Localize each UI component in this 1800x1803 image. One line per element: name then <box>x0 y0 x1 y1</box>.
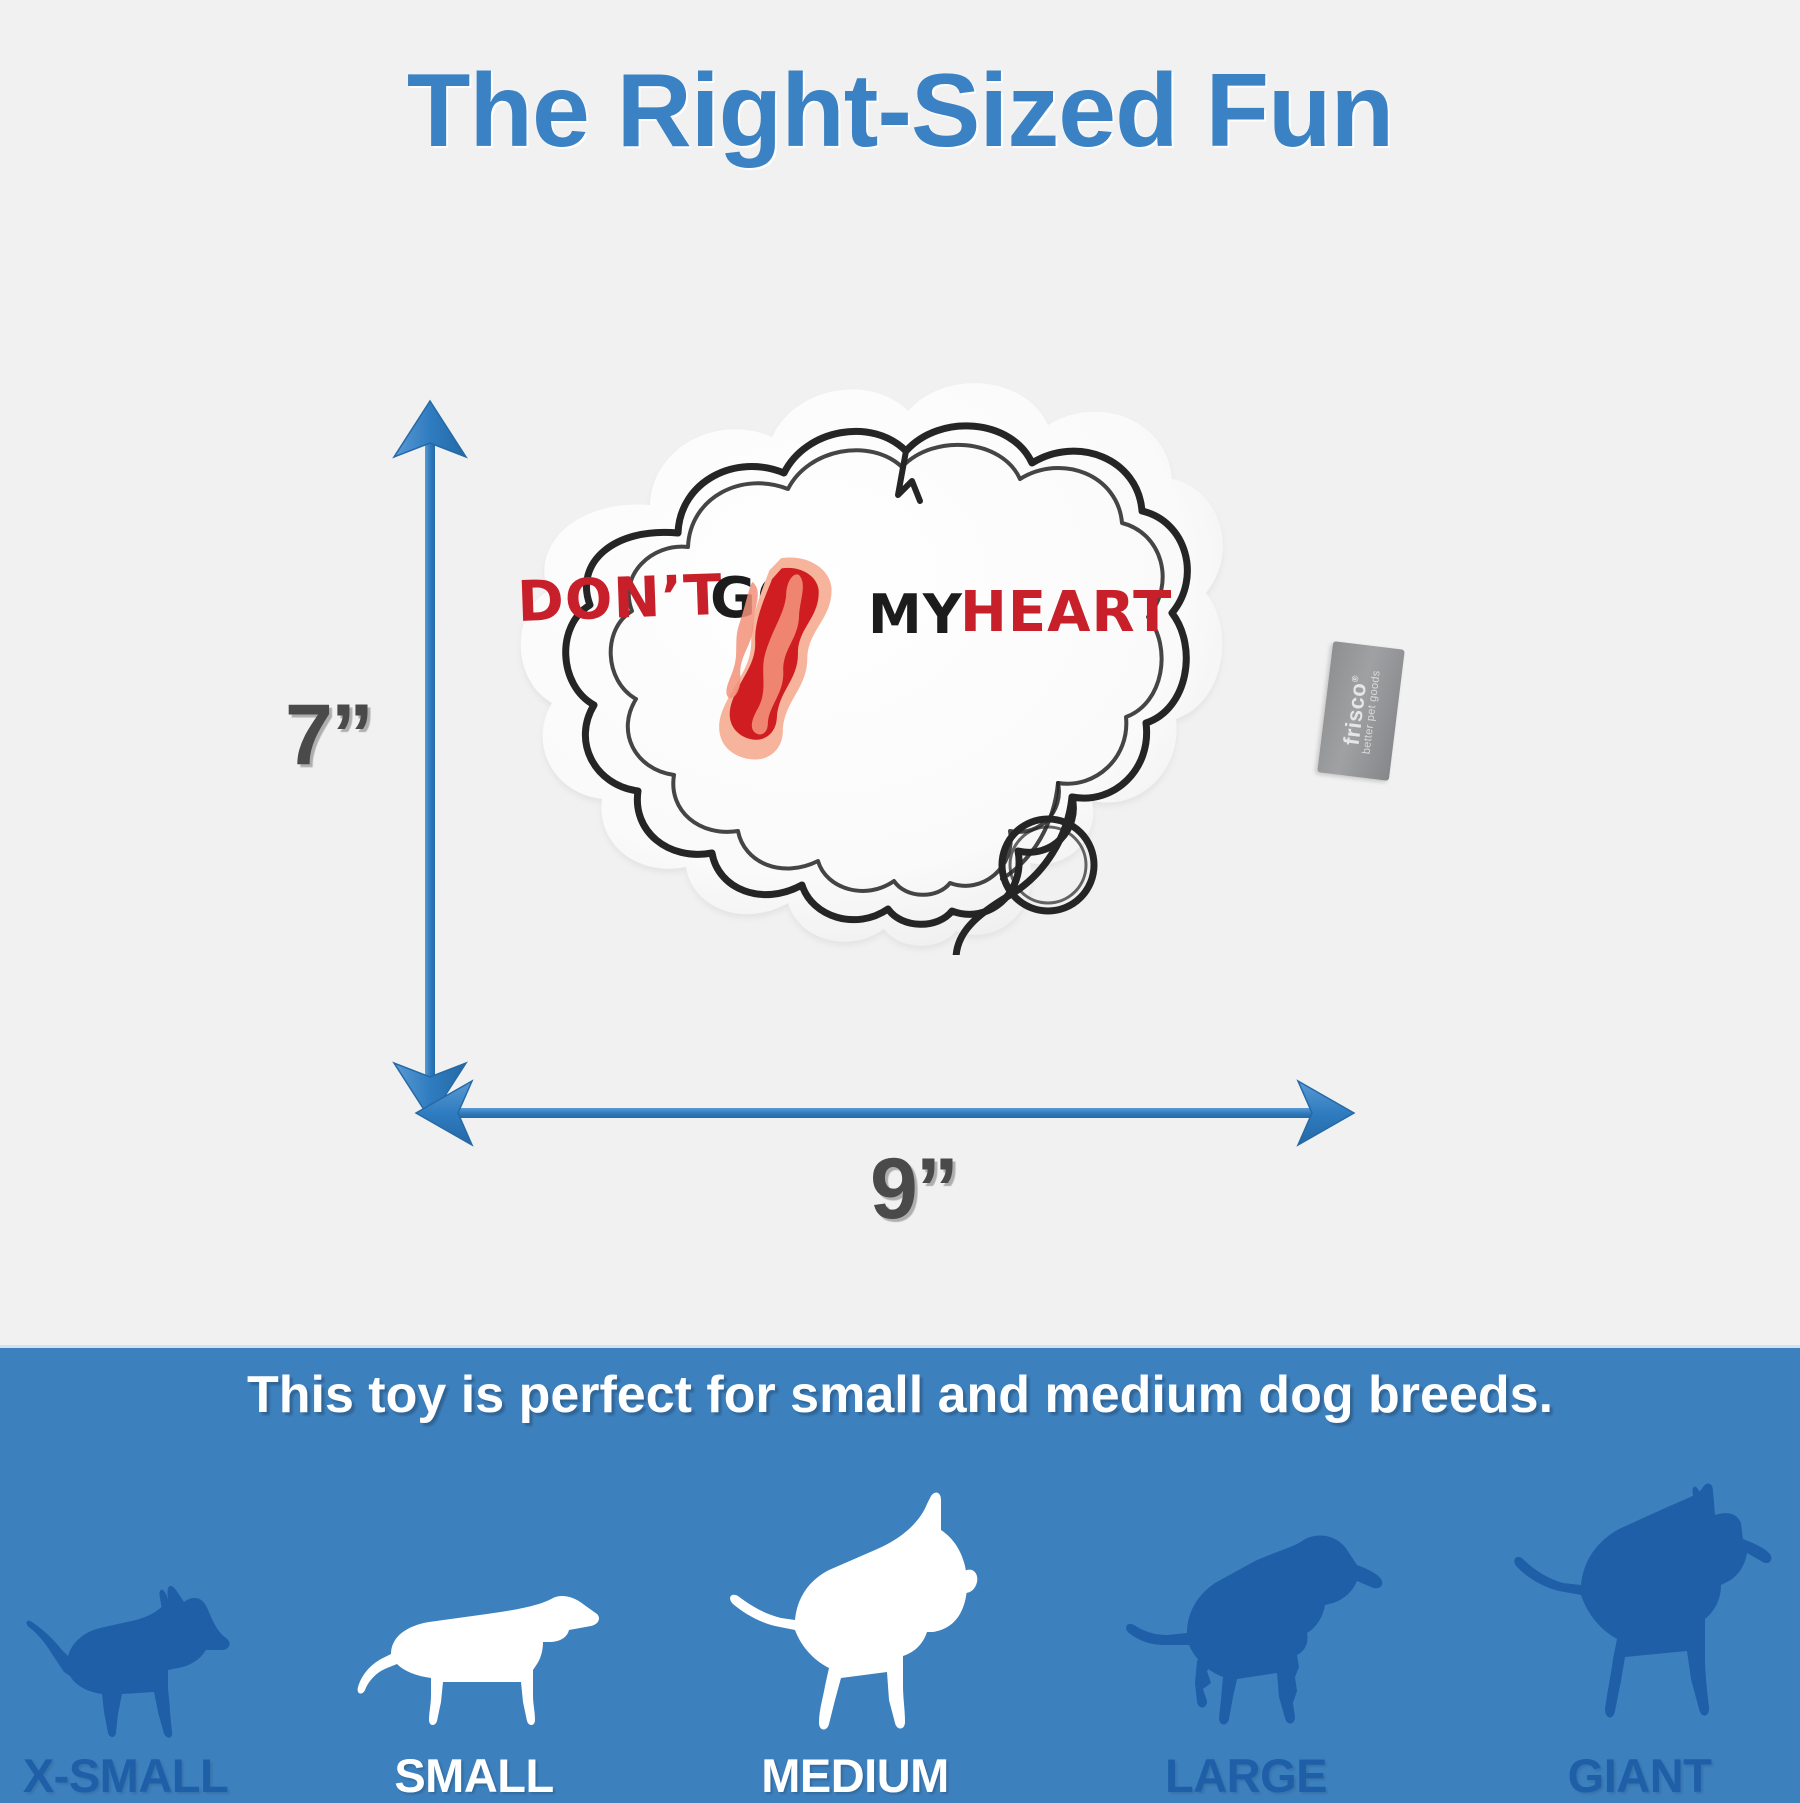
breed-label-x-small: X-SMALL <box>23 1748 228 1803</box>
great-dane-figure <box>1497 1481 1782 1746</box>
width-label: 9” <box>870 1140 957 1239</box>
bull-terrier-silhouette-icon <box>715 1486 995 1746</box>
breed-size-row: X-SMALL SMALL MEDIUM <box>0 1428 1800 1803</box>
breed-panel-heading: This toy is perfect for small and medium… <box>0 1365 1800 1425</box>
product-image-plush-toy: DON’T GO MY HEART <box>400 355 1240 955</box>
setter-silhouette-icon <box>1109 1521 1384 1746</box>
frisco-brand-tag: frisco® better pet goods <box>1317 641 1405 781</box>
dachshund-figure <box>347 1546 602 1746</box>
breed-label-medium: MEDIUM <box>761 1748 949 1803</box>
height-label: 7” <box>285 686 372 785</box>
embroidery-word-my: MY <box>868 583 963 646</box>
breed-label-small: SMALL <box>394 1748 553 1803</box>
embroidery-word-heart: HEART <box>960 580 1172 645</box>
page-title: The Right-Sized Fun <box>0 52 1800 171</box>
chihuahua-figure <box>18 1576 233 1746</box>
breed-item-medium[interactable]: MEDIUM <box>715 1428 995 1803</box>
breed-label-large: LARGE <box>1165 1748 1327 1803</box>
breed-label-giant: GIANT <box>1568 1748 1712 1803</box>
breed-item-large[interactable]: LARGE <box>1109 1428 1384 1803</box>
breed-size-panel: This toy is perfect for small and medium… <box>0 1345 1800 1803</box>
dachshund-silhouette-icon <box>347 1546 602 1746</box>
breed-item-giant[interactable]: GIANT <box>1497 1428 1782 1803</box>
setter-figure <box>1109 1521 1384 1746</box>
thought-bubble-plush: DON’T GO MY HEART <box>400 355 1240 955</box>
registered-mark-icon: ® <box>1350 674 1361 682</box>
bull-terrier-figure <box>715 1486 995 1746</box>
breed-item-x-small[interactable]: X-SMALL <box>18 1428 233 1803</box>
chihuahua-silhouette-icon <box>18 1576 233 1746</box>
great-dane-silhouette-icon <box>1497 1481 1782 1746</box>
breed-item-small[interactable]: SMALL <box>347 1428 602 1803</box>
embroidery-word-dont: DON’T <box>516 563 724 635</box>
product-size-panel: The Right-Sized Fun 7” 9” <box>0 0 1800 1345</box>
